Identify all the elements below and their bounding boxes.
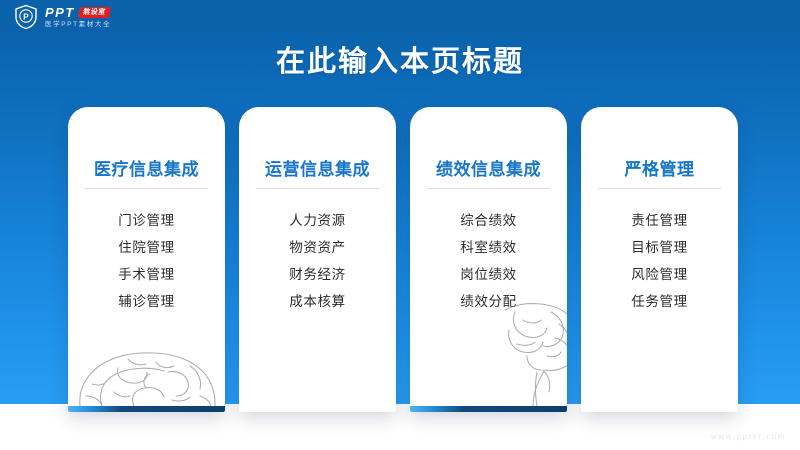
card-title: 运营信息集成 xyxy=(239,155,396,180)
list-item[interactable]: 物资资产 xyxy=(289,234,345,261)
list-item[interactable]: 绩效分配 xyxy=(460,288,516,315)
card-divider xyxy=(427,188,550,189)
list-item[interactable]: 风险管理 xyxy=(631,261,687,288)
list-item[interactable]: 目标管理 xyxy=(631,234,687,261)
card-item-list: 门诊管理 住院管理 手术管理 辅诊管理 xyxy=(68,207,225,315)
watermark: www.ppter.com xyxy=(711,432,786,441)
slide: P PPT 熬设室 医学PPT素材大全 在此输入本页标题 医疗信息集成 门诊管理 xyxy=(0,0,800,450)
card-bottom-bar xyxy=(410,406,567,412)
card-item-list: 综合绩效 科室绩效 岗位绩效 绩效分配 xyxy=(410,207,567,315)
card-row: 医疗信息集成 门诊管理 住院管理 手术管理 辅诊管理 xyxy=(0,0,800,450)
card-divider xyxy=(85,188,208,189)
card-title: 严格管理 xyxy=(581,155,738,180)
list-item[interactable]: 人力资源 xyxy=(289,207,345,234)
card-medical-information[interactable]: 医疗信息集成 门诊管理 住院管理 手术管理 辅诊管理 xyxy=(68,107,225,412)
brain-illustration-icon xyxy=(72,344,222,406)
card-item-list: 人力资源 物资资产 财务经济 成本核算 xyxy=(239,207,396,315)
list-item[interactable]: 岗位绩效 xyxy=(460,261,516,288)
list-item[interactable]: 门诊管理 xyxy=(118,207,174,234)
card-strict-management[interactable]: 严格管理 责任管理 目标管理 风险管理 任务管理 xyxy=(581,107,738,412)
brain-illustration-icon xyxy=(493,302,567,406)
card-bottom-bar xyxy=(68,406,225,412)
card-performance-information[interactable]: 绩效信息集成 综合绩效 科室绩效 岗位绩效 绩效分配 xyxy=(410,107,567,412)
card-title: 医疗信息集成 xyxy=(68,155,225,180)
card-divider xyxy=(256,188,379,189)
list-item[interactable]: 综合绩效 xyxy=(460,207,516,234)
card-operations-information[interactable]: 运营信息集成 人力资源 物资资产 财务经济 成本核算 xyxy=(239,107,396,412)
list-item[interactable]: 财务经济 xyxy=(289,261,345,288)
list-item[interactable]: 成本核算 xyxy=(289,288,345,315)
card-title: 绩效信息集成 xyxy=(410,155,567,180)
card-item-list: 责任管理 目标管理 风险管理 任务管理 xyxy=(581,207,738,315)
list-item[interactable]: 责任管理 xyxy=(631,207,687,234)
list-item[interactable]: 手术管理 xyxy=(118,261,174,288)
list-item[interactable]: 科室绩效 xyxy=(460,234,516,261)
list-item[interactable]: 任务管理 xyxy=(631,288,687,315)
list-item[interactable]: 住院管理 xyxy=(118,234,174,261)
card-divider xyxy=(598,188,721,189)
list-item[interactable]: 辅诊管理 xyxy=(118,288,174,315)
